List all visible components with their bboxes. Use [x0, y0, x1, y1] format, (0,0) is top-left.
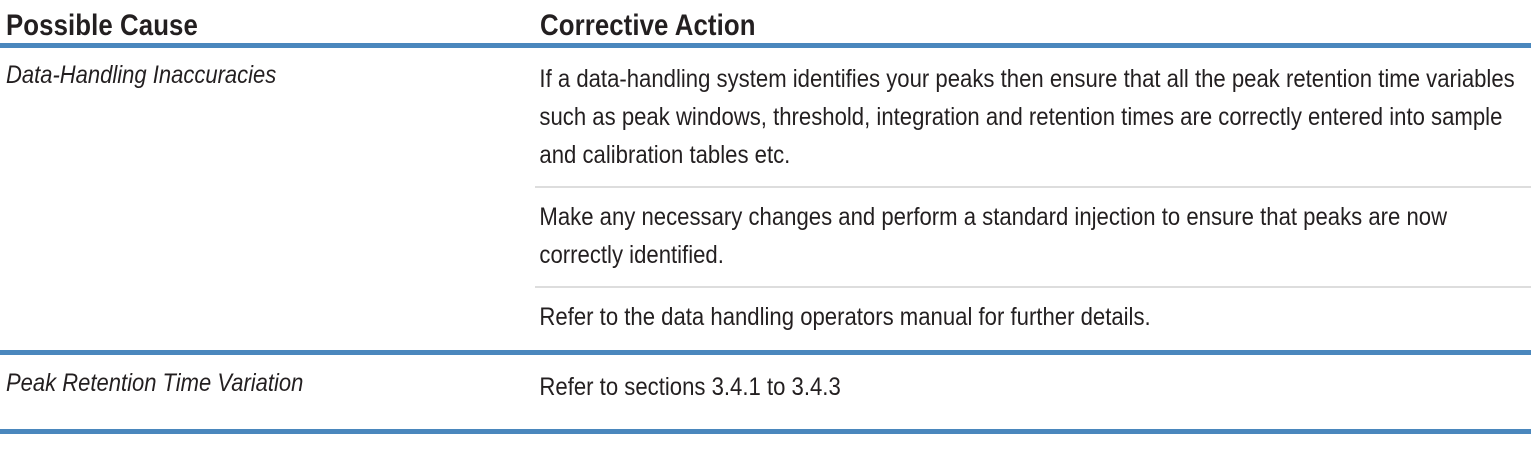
row-action-cell: Refer to sections 3.4.1 to 3.4.3 — [535, 355, 1531, 420]
table-row: Peak Retention Time Variation Refer to s… — [0, 355, 1531, 420]
table-bottom-rule — [0, 429, 1531, 434]
troubleshooting-table: Possible Cause Corrective Action Data-Ha… — [0, 0, 1531, 472]
cause-label: Data-Handling Inaccuracies — [6, 60, 472, 90]
cause-label: Peak Retention Time Variation — [6, 368, 472, 398]
action-paragraph: If a data-handling system identifies you… — [535, 48, 1531, 186]
row-cause-cell: Peak Retention Time Variation — [0, 355, 535, 398]
bottom-spacer — [0, 420, 1531, 429]
action-paragraph: Refer to sections 3.4.1 to 3.4.3 — [535, 368, 1531, 406]
row-action-cell: If a data-handling system identifies you… — [535, 48, 1531, 350]
table-header-row: Possible Cause Corrective Action — [0, 0, 1531, 43]
table-row: Data-Handling Inaccuracies If a data-han… — [0, 48, 1531, 350]
header-cell-corrective-action: Corrective Action — [535, 0, 1531, 43]
header-cell-possible-cause: Possible Cause — [0, 0, 535, 43]
header-label-possible-cause: Possible Cause — [6, 9, 461, 43]
row-cause-cell: Data-Handling Inaccuracies — [0, 48, 535, 90]
action-paragraph: Make any necessary changes and perform a… — [535, 188, 1531, 286]
header-label-corrective-action: Corrective Action — [540, 9, 1392, 43]
action-paragraph: Refer to the data handling operators man… — [535, 288, 1531, 350]
